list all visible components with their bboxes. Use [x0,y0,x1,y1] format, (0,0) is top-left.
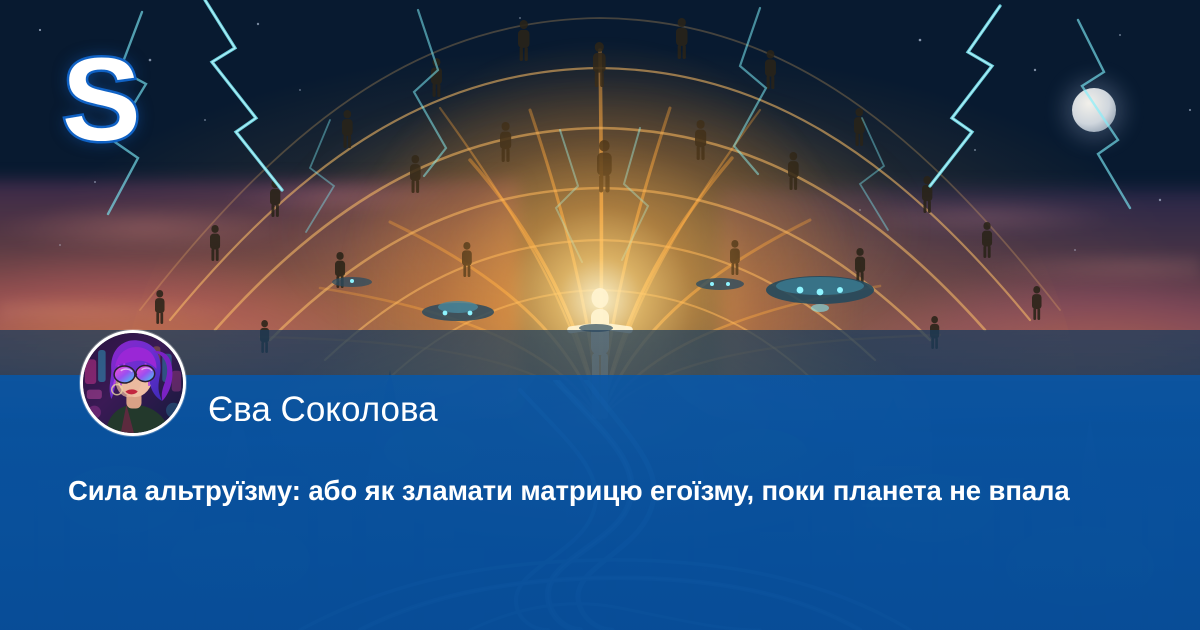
ufo-icon-left [422,301,494,321]
ufo-icon-small-b [696,278,744,290]
ufo-icon-small-a [332,277,372,287]
author-avatar[interactable] [80,330,186,436]
site-logo[interactable]: S [62,40,162,160]
avatar-portrait-icon [83,333,183,433]
airship-icon [766,276,874,312]
social-share-card: S [0,0,1200,630]
article-headline[interactable]: Сила альтруїзму: або як зламати матрицю … [68,473,1158,509]
author-name[interactable]: Єва Соколова [208,388,438,432]
